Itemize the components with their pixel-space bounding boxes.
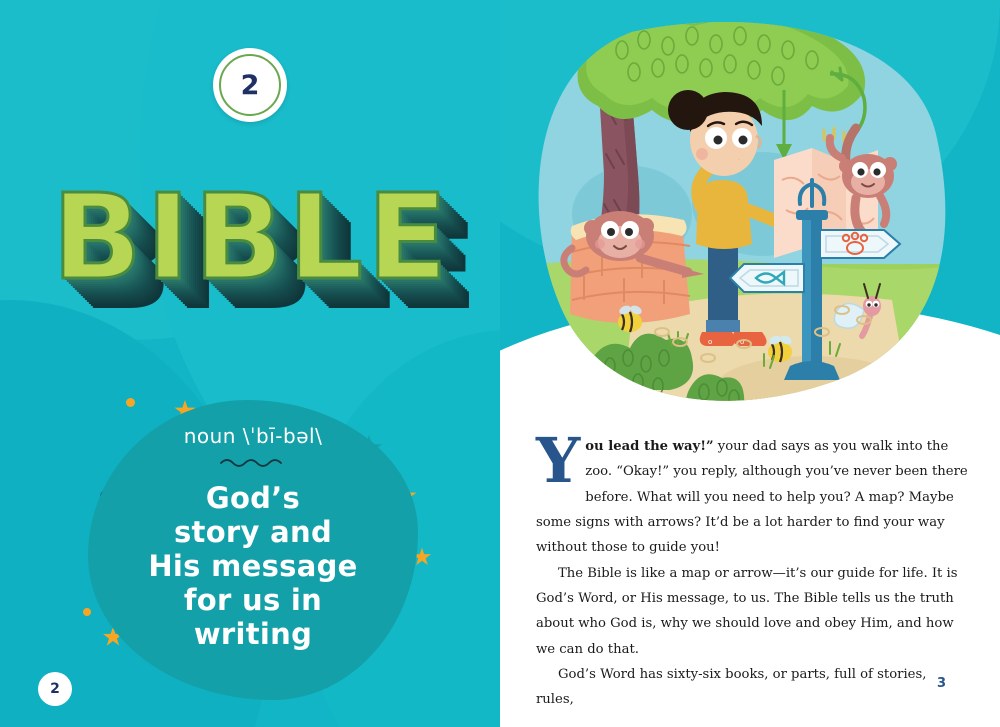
illustration-girl-with-map-at-zoo: oo bbox=[512, 14, 972, 414]
girl-hair-bun bbox=[668, 90, 708, 130]
fish-sign bbox=[730, 264, 804, 292]
paragraph-1-text: your dad says as you walk into the zoo. … bbox=[536, 439, 968, 555]
lead-phrase: ou lead the way!” bbox=[585, 439, 713, 454]
page-number-right: 3 bbox=[937, 676, 946, 691]
girl-hand-on-chin bbox=[708, 162, 734, 169]
definition-text: God’s story and His message for us in wr… bbox=[88, 482, 418, 652]
drop-cap: Y bbox=[536, 436, 580, 487]
chapter-number: 2 bbox=[241, 72, 260, 99]
left-page: 2 BIBLE noun \ˈbī-bəl\ bbox=[0, 0, 500, 727]
paragraph-2: The Bible is like a map or arrow—it’s ou… bbox=[536, 561, 968, 662]
paragraph-1: You lead the way!” your dad says as you … bbox=[536, 434, 968, 561]
pronunciation: noun \ˈbī-bəl\ bbox=[88, 424, 418, 448]
girl-shoe-left bbox=[700, 332, 735, 346]
definition-line: story and bbox=[88, 516, 418, 550]
definition-line: His message bbox=[88, 550, 418, 584]
definition-line: writing bbox=[88, 618, 418, 652]
definition-line: God’s bbox=[88, 482, 418, 516]
page-number-left: 2 bbox=[38, 672, 72, 706]
bee-near-wall bbox=[618, 304, 643, 332]
book-spread: 2 BIBLE noun \ˈbī-bəl\ bbox=[0, 0, 1000, 727]
body-copy: You lead the way!” your dad says as you … bbox=[536, 434, 968, 713]
paragraph-3: God’s Word has sixty-six books, or parts… bbox=[536, 662, 968, 713]
paw-print-sign bbox=[820, 230, 900, 258]
headword-title: BIBLE bbox=[52, 178, 482, 296]
right-page: oo bbox=[500, 0, 1000, 727]
definition-line: for us in bbox=[88, 584, 418, 618]
svg-text:o: o bbox=[708, 338, 712, 346]
wavy-divider bbox=[218, 456, 288, 468]
orange-dot-1 bbox=[126, 398, 135, 407]
girl-jeans bbox=[708, 238, 738, 332]
definition-block: noun \ˈbī-bəl\ God’s story and His messa… bbox=[88, 424, 418, 652]
chapter-number-badge: 2 bbox=[213, 48, 287, 122]
illustration-scene: oo bbox=[512, 14, 972, 414]
headword-wrapper: BIBLE bbox=[52, 178, 482, 338]
bee-on-path bbox=[768, 334, 793, 362]
